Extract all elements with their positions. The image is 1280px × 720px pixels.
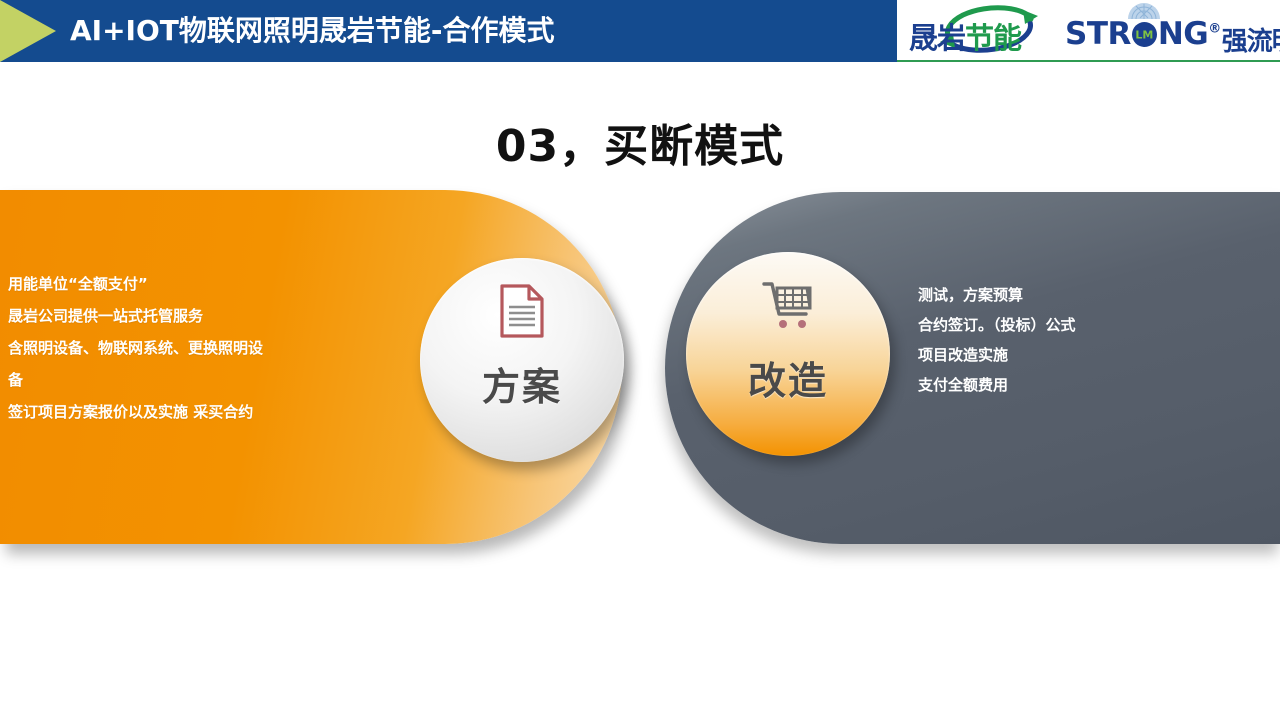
panel-left-line-4: 备 [8,364,353,396]
panel-left-line-5: 签订项目方案报价以及实施 采买合约 [8,396,353,428]
logo-registered-mark: ® [1208,22,1221,37]
panel-left-text-block: 用能单位“全额支付” 晟岩公司提供一站式托管服务 含照明设备、物联网系统、更换照… [8,268,353,428]
logo-brand-part2: NG [1158,16,1208,52]
page-title: 03，买断模式 [0,110,1280,174]
logo-brand-cn: 强流明照明 [1222,21,1280,58]
logo-brand-part1: STR [1065,16,1131,52]
header-title: AI+IOT物联网照明晟岩节能-合作模式 [70,9,555,49]
panel-right-line-4: 支付全额费用 [918,370,1248,400]
logo-chinese-text: 晟岩节能 [909,15,1021,57]
panel-right-line-2: 合约签订。（投标）公式 [918,310,1248,340]
panel-right-line-3: 项目改造实施 [918,340,1248,370]
logo-brand-mark: STRLMNG® [1065,7,1221,53]
logo-lm-text: LM [1132,28,1157,41]
panel-left-line-1: 用能单位“全额支付” [8,268,353,300]
logo-lm-badge-icon: LM [1132,22,1157,47]
content-panels: 用能单位“全额支付” 晟岩公司提供一站式托管服务 含照明设备、物联网系统、更换照… [0,190,1280,570]
logo-chinese-mark: 晟岩节能 [909,7,1059,53]
logo-brand-text: STRLMNG® [1065,16,1221,52]
logo-cn-blue: 晟岩 [909,21,965,55]
company-logo: 晟岩节能 STRLMNG® 强流明照明 [897,0,1280,62]
slide-root: AI+IOT物联网照明晟岩节能-合作模式 晟岩节能 [0,0,1280,720]
panel-right-text-block: 测试，方案预算 合约签订。（投标）公式 项目改造实施 支付全额费用 [918,280,1248,400]
circle-retrofit[interactable]: 改造 [686,252,890,456]
circle-plan[interactable]: 方案 [420,258,624,462]
panel-left-line-3: 含照明设备、物联网系统、更换照明设 [8,332,353,364]
slide-header: AI+IOT物联网照明晟岩节能-合作模式 晟岩节能 [0,0,1280,62]
circle-plan-label: 方案 [482,356,562,411]
panel-right-line-1: 测试，方案预算 [918,280,1248,310]
shopping-cart-icon [761,274,815,336]
document-icon [499,280,545,342]
logo-cn-green: 节能 [965,21,1021,55]
panel-left-line-2: 晟岩公司提供一站式托管服务 [8,300,353,332]
circle-retrofit-label: 改造 [748,350,828,405]
